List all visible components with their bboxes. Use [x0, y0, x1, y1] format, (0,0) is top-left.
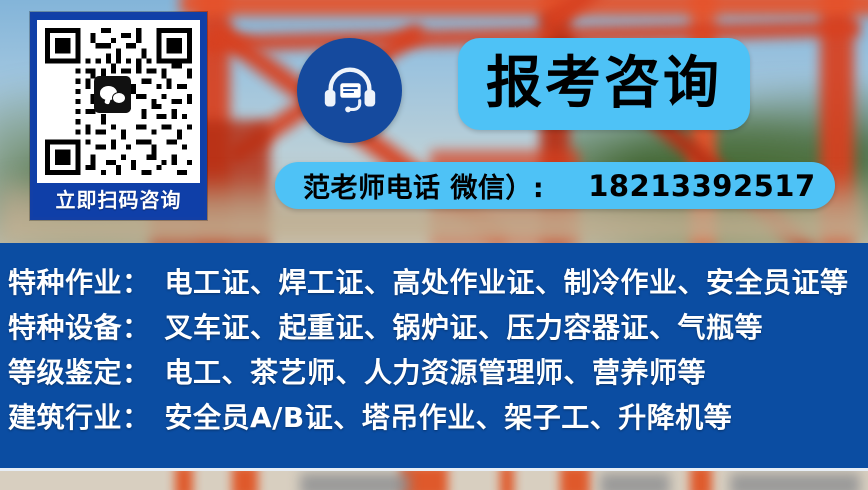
footer-bar — [730, 473, 860, 490]
footer-bar — [560, 471, 590, 490]
title-badge: 报考咨询 — [458, 38, 750, 130]
footer-bar — [232, 471, 258, 490]
contact-badge[interactable]: 范老师电话 微信）: 18213392517 — [275, 162, 835, 209]
list-item: 建筑行业： 安全员A/B证、塔吊作业、架子工、升降机等 — [0, 396, 868, 441]
footer-bar — [300, 473, 410, 490]
category-label: 等级鉴定： — [8, 351, 151, 391]
footer-bar — [690, 471, 712, 490]
footer-bar — [500, 471, 514, 490]
headset-glyph — [319, 60, 381, 122]
footer-bar — [600, 473, 670, 490]
category-value: 安全员A/B证、塔吊作业、架子工、升降机等 — [165, 396, 733, 436]
category-label: 特种作业： — [8, 261, 151, 301]
title-badge-text: 报考咨询 — [486, 56, 722, 112]
promo-poster: 立即扫码咨询 报考咨询 范老师电话 微信）: 18213392517 — [0, 0, 868, 490]
footer-bar — [175, 471, 193, 490]
qr-code-card[interactable]: 立即扫码咨询 — [30, 12, 207, 220]
category-value: 电工、茶艺师、人力资源管理师、营养师等 — [165, 351, 707, 391]
category-label: 特种设备： — [8, 306, 151, 346]
hero-background-photo: 立即扫码咨询 报考咨询 范老师电话 微信）: 18213392517 — [0, 0, 868, 243]
certificate-category-panel: 特种作业： 电工证、焊工证、高处作业证、制冷作业、安全员证等 特种设备： 叉车证… — [0, 243, 868, 468]
list-item: 特种作业： 电工证、焊工证、高处作业证、制冷作业、安全员证等 — [0, 261, 868, 306]
category-label: 建筑行业： — [8, 396, 151, 436]
list-item: 等级鉴定： 电工、茶艺师、人力资源管理师、营养师等 — [0, 351, 868, 396]
crane-bar — [180, 0, 868, 16]
wechat-logo-icon — [94, 76, 131, 113]
category-value: 叉车证、起重证、锅炉证、压力容器证、气瓶等 — [165, 306, 764, 346]
contact-phone-number[interactable]: 18213392517 — [588, 169, 815, 203]
footer-photo-strip — [0, 471, 868, 490]
list-item: 特种设备： 叉车证、起重证、锅炉证、压力容器证、气瓶等 — [0, 306, 868, 351]
qr-code-image[interactable] — [37, 20, 200, 183]
contact-label: 范老师电话 微信）: — [303, 166, 544, 205]
headset-support-icon — [297, 38, 402, 143]
qr-caption: 立即扫码咨询 — [56, 190, 182, 210]
category-value: 电工证、焊工证、高处作业证、制冷作业、安全员证等 — [165, 261, 849, 301]
